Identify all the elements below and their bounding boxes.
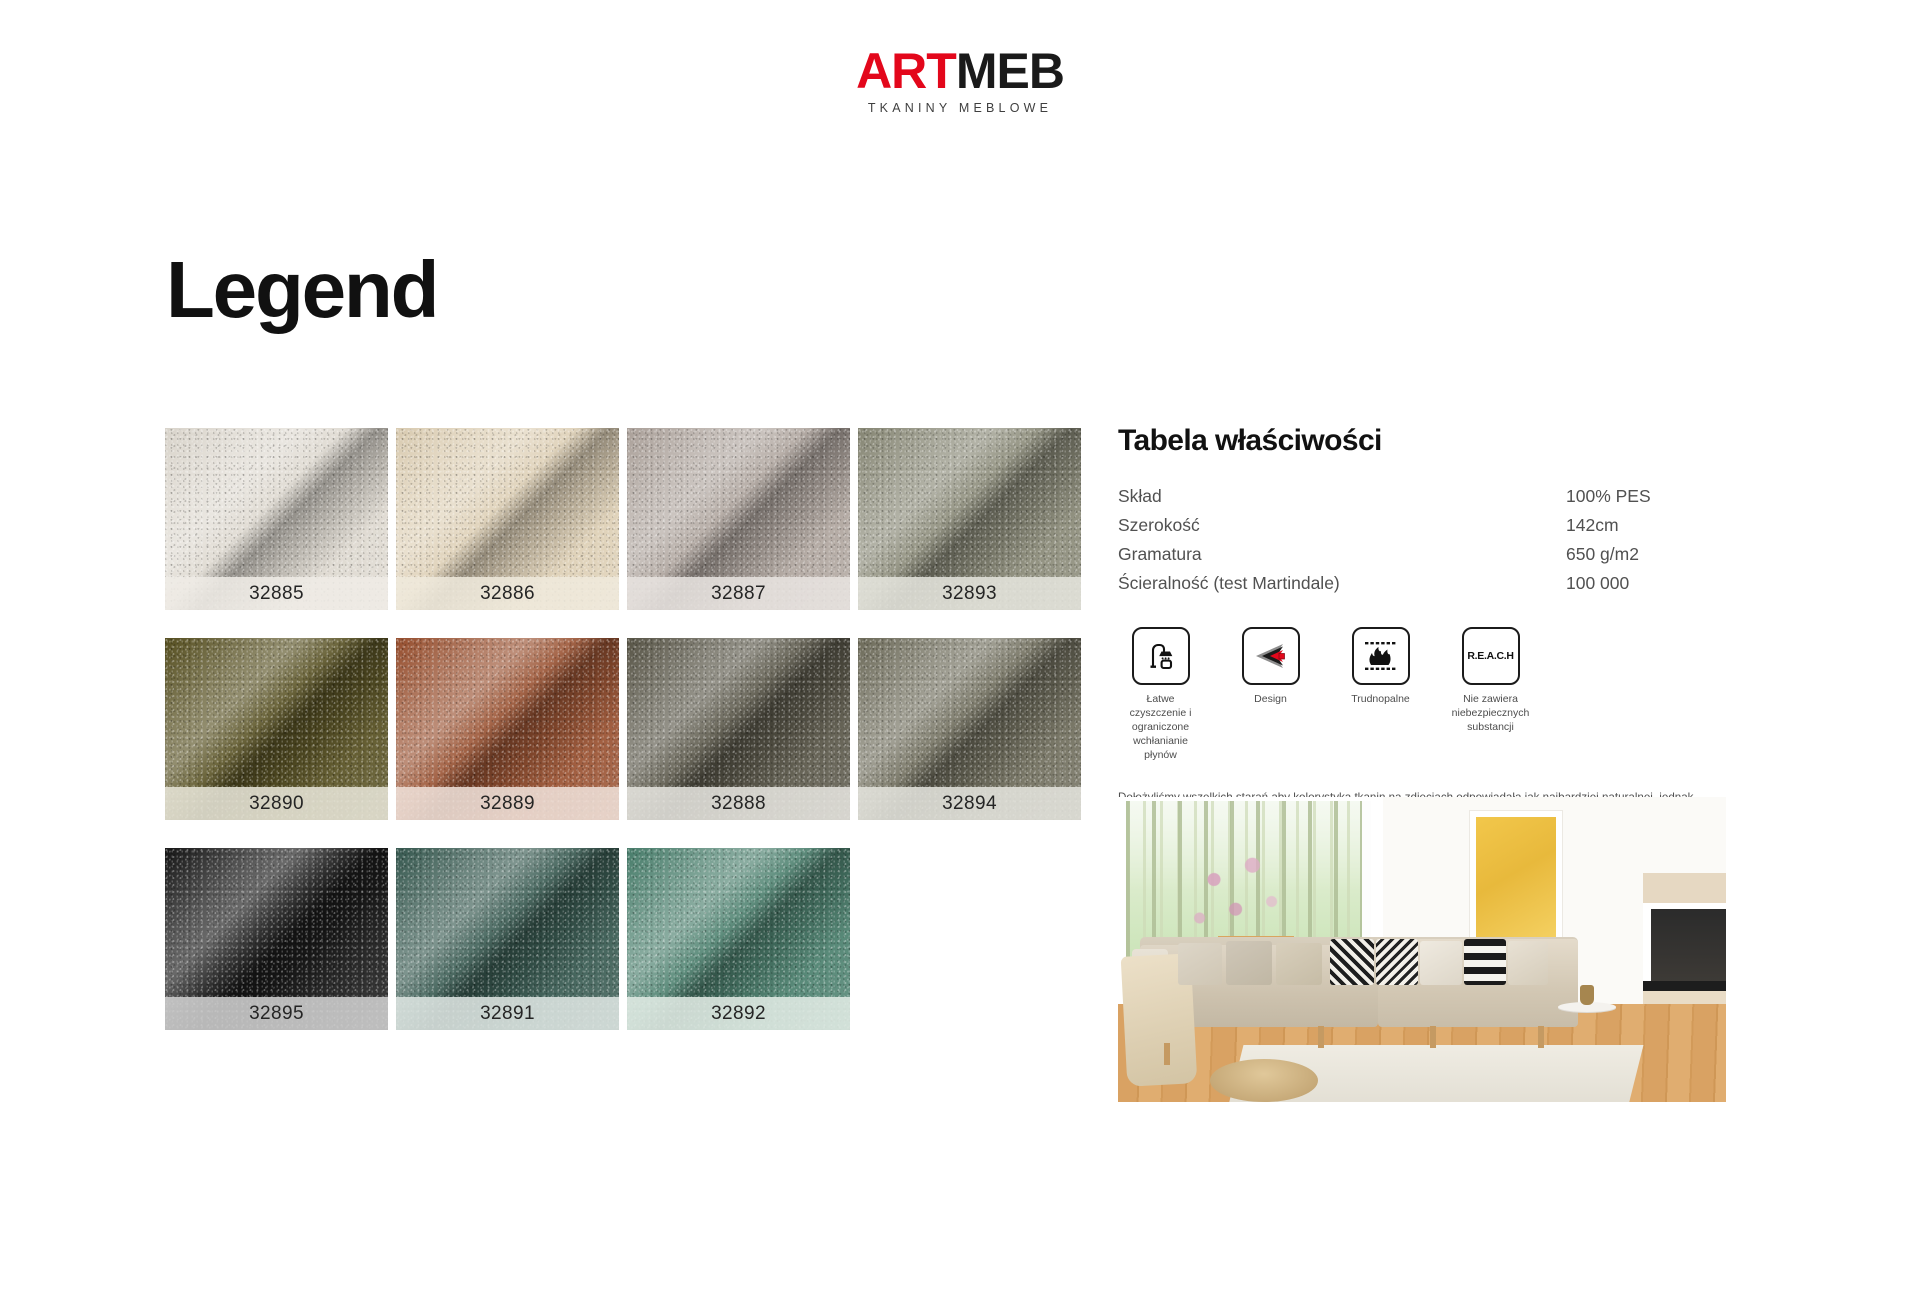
photo-sofa-leg	[1430, 1026, 1436, 1048]
fabric-swatch[interactable]: 32888	[627, 638, 850, 820]
reach-icon: R.E.A.C.H	[1462, 627, 1520, 685]
photo-pillow	[1178, 943, 1222, 985]
photo-pillow-aztec	[1330, 939, 1374, 985]
fabric-swatch-label: 32888	[627, 787, 850, 820]
flame-icon	[1352, 627, 1410, 685]
fabric-code: 32889	[480, 793, 535, 815]
interior-photo	[1118, 797, 1726, 1102]
fabric-swatch[interactable]: 32887	[627, 428, 850, 610]
property-row: Gramatura650 g/m2	[1118, 540, 1736, 569]
properties-title: Tabela właściwości	[1118, 424, 1736, 458]
feature-caption: Design	[1254, 693, 1287, 707]
feature-icon-row: Łatwe czyszczenie i ograniczone wchłania…	[1118, 627, 1736, 762]
fabric-swatch[interactable]: 32893	[858, 428, 1081, 610]
fabric-code: 32894	[942, 793, 997, 815]
photo-sofa-leg	[1538, 1026, 1544, 1048]
fabric-code: 32893	[942, 583, 997, 605]
design-icon	[1242, 627, 1300, 685]
fabric-swatch-label: 32893	[858, 577, 1081, 610]
fabric-swatch-label: 32886	[396, 577, 619, 610]
fabric-code: 32890	[249, 793, 304, 815]
logo-meb-text: MEB	[956, 46, 1064, 96]
property-value: 100 000	[1566, 569, 1736, 598]
photo-pillow	[1508, 941, 1548, 985]
fabric-swatch[interactable]: 32886	[396, 428, 619, 610]
property-row: Ścieralność (test Martindale)100 000	[1118, 569, 1736, 598]
photo-sofa-leg	[1318, 1026, 1324, 1048]
fabric-swatch-label: 32887	[627, 577, 850, 610]
photo-pillow	[1276, 943, 1322, 985]
logo-art-text: ART	[856, 46, 956, 96]
fabric-swatch[interactable]: 32889	[396, 638, 619, 820]
property-name: Gramatura	[1118, 540, 1566, 569]
feature-caption: Trudnopalne	[1351, 693, 1410, 707]
brand-logo: ARTMEB TKANINY MEBLOWE	[0, 46, 1920, 115]
fabric-swatch-label: 32890	[165, 787, 388, 820]
property-value: 142cm	[1566, 511, 1736, 540]
logo-wordmark: ARTMEB	[856, 46, 1064, 96]
photo-vase	[1580, 985, 1594, 1005]
photo-pillow	[1226, 941, 1272, 985]
reach-badge-text: R.E.A.C.H	[1467, 650, 1513, 662]
page-title: Legend	[166, 250, 437, 330]
fabric-code: 32886	[480, 583, 535, 605]
fabric-swatch[interactable]: 32891	[396, 848, 619, 1030]
fabric-code: 32892	[711, 1003, 766, 1025]
feature-caption: Łatwe czyszczenie i ograniczone wchłania…	[1118, 693, 1203, 762]
properties-table: Skład100% PESSzerokość142cmGramatura650 …	[1118, 482, 1736, 597]
feature-icon-reach: R.E.A.C.H Nie zawiera niebezpiecznych su…	[1448, 627, 1533, 762]
property-name: Szerokość	[1118, 511, 1566, 540]
fabric-swatch-label: 32889	[396, 787, 619, 820]
property-name: Skład	[1118, 482, 1566, 511]
property-value: 100% PES	[1566, 482, 1736, 511]
photo-pillow-aztec	[1376, 939, 1418, 985]
fabric-code: 32895	[249, 1003, 304, 1025]
fabric-swatch-label: 32885	[165, 577, 388, 610]
photo-jute-pouf	[1210, 1059, 1318, 1102]
property-row: Skład100% PES	[1118, 482, 1736, 511]
feature-caption: Nie zawiera niebezpiecznych substancji	[1448, 693, 1533, 735]
vacuum-icon	[1132, 627, 1190, 685]
fabric-code: 32887	[711, 583, 766, 605]
logo-tagline: TKANINY MEBLOWE	[868, 101, 1052, 115]
property-row: Szerokość142cm	[1118, 511, 1736, 540]
feature-icon-flame: Trudnopalne	[1338, 627, 1423, 762]
fabric-swatch[interactable]: 32885	[165, 428, 388, 610]
fabric-swatch-label: 32894	[858, 787, 1081, 820]
fabric-code: 32885	[249, 583, 304, 605]
photo-fireplace-opening	[1651, 909, 1726, 981]
fabric-swatch[interactable]: 32895	[165, 848, 388, 1030]
fabric-swatch-label: 32892	[627, 997, 850, 1030]
photo-pillow-striped	[1464, 939, 1506, 985]
photo-wall-art-yellow	[1470, 811, 1562, 951]
photo-sofa-leg	[1164, 1043, 1170, 1065]
photo-pillow	[1420, 941, 1462, 985]
fabric-code: 32891	[480, 1003, 535, 1025]
property-name: Ścieralność (test Martindale)	[1118, 569, 1566, 598]
fabric-swatch-label: 32895	[165, 997, 388, 1030]
fabric-swatch[interactable]: 32892	[627, 848, 850, 1030]
property-value: 650 g/m2	[1566, 540, 1736, 569]
feature-icon-design: Design	[1228, 627, 1313, 762]
photo-fireplace-hearth	[1643, 981, 1726, 991]
fabric-swatch-label: 32891	[396, 997, 619, 1030]
feature-icon-vacuum: Łatwe czyszczenie i ograniczone wchłania…	[1118, 627, 1203, 762]
fabric-swatch[interactable]: 32894	[858, 638, 1081, 820]
fabric-swatch[interactable]: 32890	[165, 638, 388, 820]
properties-panel: Tabela właściwości Skład100% PESSzerokoś…	[1118, 424, 1736, 857]
fabric-code: 32888	[711, 793, 766, 815]
fabric-swatch-grid: 3288532886328873289332890328893288832894…	[165, 428, 1081, 1030]
